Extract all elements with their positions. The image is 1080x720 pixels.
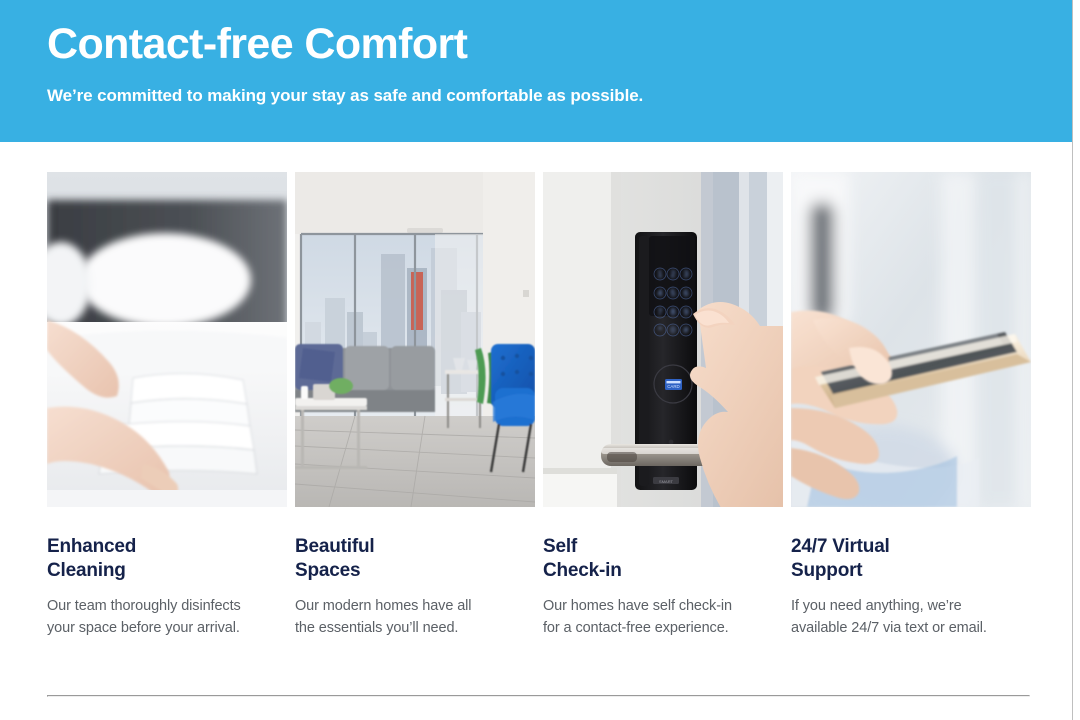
card-title-line1: 24/7 Virtual	[791, 536, 890, 557]
svg-text:8: 8	[670, 307, 675, 317]
housekeeping-folded-towels-photo	[47, 172, 287, 507]
card-description-line1: If you need anything, we’re	[791, 598, 962, 614]
card-description-line2: your space before your arrival.	[47, 620, 240, 636]
card-title-line2: Cleaning	[47, 560, 126, 581]
hero-banner: Contact-free Comfort We’re committed to …	[0, 0, 1072, 142]
card-title: Enhanced Cleaning	[47, 535, 287, 583]
feature-card-enhanced-cleaning[interactable]: Enhanced Cleaning Our team thoroughly di…	[47, 172, 287, 639]
feature-card-grid: Enhanced Cleaning Our team thoroughly di…	[47, 172, 1030, 639]
card-description: Our modern homes have all the essentials…	[295, 595, 535, 639]
card-title: Beautiful Spaces	[295, 535, 535, 583]
card-title: Self Check-in	[543, 535, 783, 583]
contact-free-comfort-page: Contact-free Comfort We’re committed to …	[0, 0, 1080, 720]
page-title: Contact-free Comfort	[47, 18, 1032, 70]
card-description-line2: available 24/7 via text or email.	[791, 620, 987, 636]
card-title-line1: Enhanced	[47, 536, 136, 557]
card-description-line1: Our homes have self check-in	[543, 598, 732, 614]
svg-text:*: *	[658, 325, 662, 335]
hand-holding-smartphone-photo	[791, 172, 1031, 507]
modern-living-room-photo	[295, 172, 535, 507]
card-description: If you need anything, we’re available 24…	[791, 595, 1031, 639]
svg-text:CARD: CARD	[667, 384, 679, 389]
card-description-line2: for a contact-free experience.	[543, 620, 729, 636]
card-description: Our homes have self check-in for a conta…	[543, 595, 783, 639]
svg-text:9: 9	[683, 307, 688, 317]
card-title-line2: Check-in	[543, 560, 622, 581]
card-description-line2: the essentials you’ll need.	[295, 620, 458, 636]
card-title-line2: Support	[791, 560, 862, 581]
svg-text:4: 4	[657, 288, 662, 298]
page-subtitle: We’re committed to making your stay as s…	[47, 86, 1032, 106]
card-description-line1: Our modern homes have all	[295, 598, 471, 614]
svg-text:#: #	[683, 325, 688, 335]
svg-text:1: 1	[657, 269, 662, 279]
feature-card-self-check-in[interactable]: 123 456 789 *0#	[543, 172, 783, 639]
card-title-line1: Self	[543, 536, 577, 557]
svg-text:0: 0	[670, 325, 675, 335]
card-title-line2: Spaces	[295, 560, 360, 581]
card-title: 24/7 Virtual Support	[791, 535, 1031, 583]
footer-divider	[47, 695, 1030, 697]
feature-card-virtual-support[interactable]: 24/7 Virtual Support If you need anythin…	[791, 172, 1031, 639]
card-title-line1: Beautiful	[295, 536, 374, 557]
feature-card-beautiful-spaces[interactable]: Beautiful Spaces Our modern homes have a…	[295, 172, 535, 639]
svg-text:2: 2	[670, 269, 675, 279]
svg-text:7: 7	[657, 307, 662, 317]
page-scrollbar[interactable]	[1072, 0, 1080, 720]
card-description-line1: Our team thoroughly disinfects	[47, 598, 241, 614]
svg-text:3: 3	[683, 269, 688, 279]
svg-text:SMART: SMART	[659, 479, 673, 484]
card-description: Our team thoroughly disinfects your spac…	[47, 595, 287, 639]
svg-text:5: 5	[670, 288, 675, 298]
smart-lock-keypad-photo: 123 456 789 *0#	[543, 172, 783, 507]
svg-text:6: 6	[683, 288, 688, 298]
